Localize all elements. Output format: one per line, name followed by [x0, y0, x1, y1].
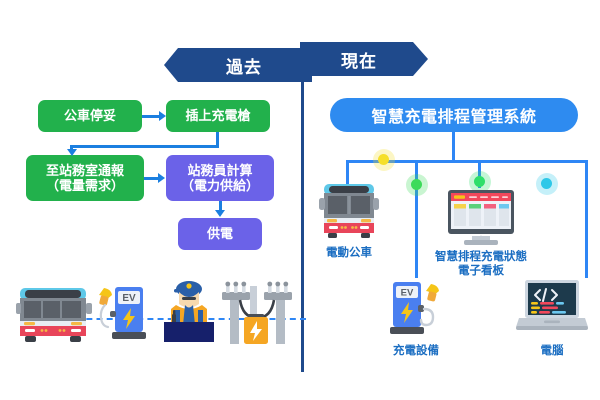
glow-dot-board — [474, 176, 485, 187]
caption-charging-equipment-label: 充電設備 — [393, 345, 439, 357]
flow-arrow-report-calc-line — [144, 177, 158, 180]
flow-node-supply: 供電 — [178, 218, 262, 250]
flow-node-supply-label: 供電 — [207, 226, 233, 241]
caption-electric-bus: 電動公車 — [318, 246, 380, 260]
glow-dot-computer — [541, 178, 552, 189]
flow-arrow-plug-report-seg2 — [70, 145, 219, 148]
banner-past: 過去 — [164, 48, 312, 82]
flow-node-report-label: 至站務室通報 — [46, 163, 124, 178]
caption-electric-bus-label: 電動公車 — [326, 247, 372, 259]
electric-bus-icon — [318, 182, 380, 240]
flow-arrow-calc-supply-head — [215, 210, 225, 217]
system-title-label: 智慧充電排程管理系統 — [371, 103, 536, 127]
ev-charging-station-icon: EV — [385, 278, 447, 340]
svg-text:EV: EV — [401, 288, 414, 299]
flow-node-report-sublabel: （電量需求） — [46, 178, 124, 193]
connector-stem — [452, 132, 455, 161]
caption-status-board-line2: 電子看板 — [458, 265, 504, 277]
flow-node-plug: 插上充電槍 — [166, 100, 270, 132]
banner-present-label: 現在 — [341, 47, 377, 72]
flow-arrow-park-plug-head — [159, 111, 166, 121]
flow-node-park-label: 公車停妥 — [64, 108, 116, 123]
flow-arrow-plug-report-seg1 — [216, 132, 219, 146]
desktop-monitor-icon — [446, 188, 516, 246]
station-worker-icon — [158, 276, 220, 342]
caption-computer-label: 電腦 — [541, 345, 564, 357]
caption-computer: 電腦 — [518, 344, 586, 358]
caption-status-board: 智慧排程充電狀態 電子看板 — [426, 250, 536, 279]
flow-node-report: 至站務室通報 （電量需求） — [26, 155, 144, 201]
glow-dot-charger — [411, 179, 422, 190]
banner-present: 現在 — [300, 42, 428, 76]
flow-node-park: 公車停妥 — [38, 100, 142, 132]
glow-dot-bus — [378, 154, 389, 165]
connector-drop-computer — [585, 160, 588, 278]
ev-charger-icon: EV — [92, 284, 154, 344]
section-divider — [301, 76, 304, 372]
system-title-pill: 智慧充電排程管理系統 — [330, 98, 578, 132]
infographic-canvas: 過去 現在 公車停妥 插上充電槍 至站務室通報 （電量需求） 站務員計算 （電力… — [0, 0, 600, 400]
caption-status-board-line1: 智慧排程充電狀態 — [435, 251, 527, 263]
ev-charger-screen-label: EV — [122, 293, 136, 304]
flow-arrow-park-plug-line — [142, 115, 159, 118]
laptop-icon — [515, 278, 589, 336]
connector-drop-bus — [346, 160, 349, 184]
bus-side-icon — [16, 285, 92, 343]
flow-arrow-plug-report-head — [67, 149, 77, 156]
banner-past-label: 過去 — [226, 53, 262, 78]
flow-node-plug-label: 插上充電槍 — [185, 108, 250, 123]
caption-charging-equipment: 充電設備 — [384, 344, 448, 358]
flow-node-calc-label: 站務員計算 — [187, 163, 252, 178]
flow-node-calc-sublabel: （電力供給） — [181, 178, 259, 193]
flow-arrow-report-calc-head — [158, 173, 165, 183]
flow-node-calc: 站務員計算 （電力供給） — [166, 155, 274, 201]
power-transformer-icon — [218, 276, 298, 344]
